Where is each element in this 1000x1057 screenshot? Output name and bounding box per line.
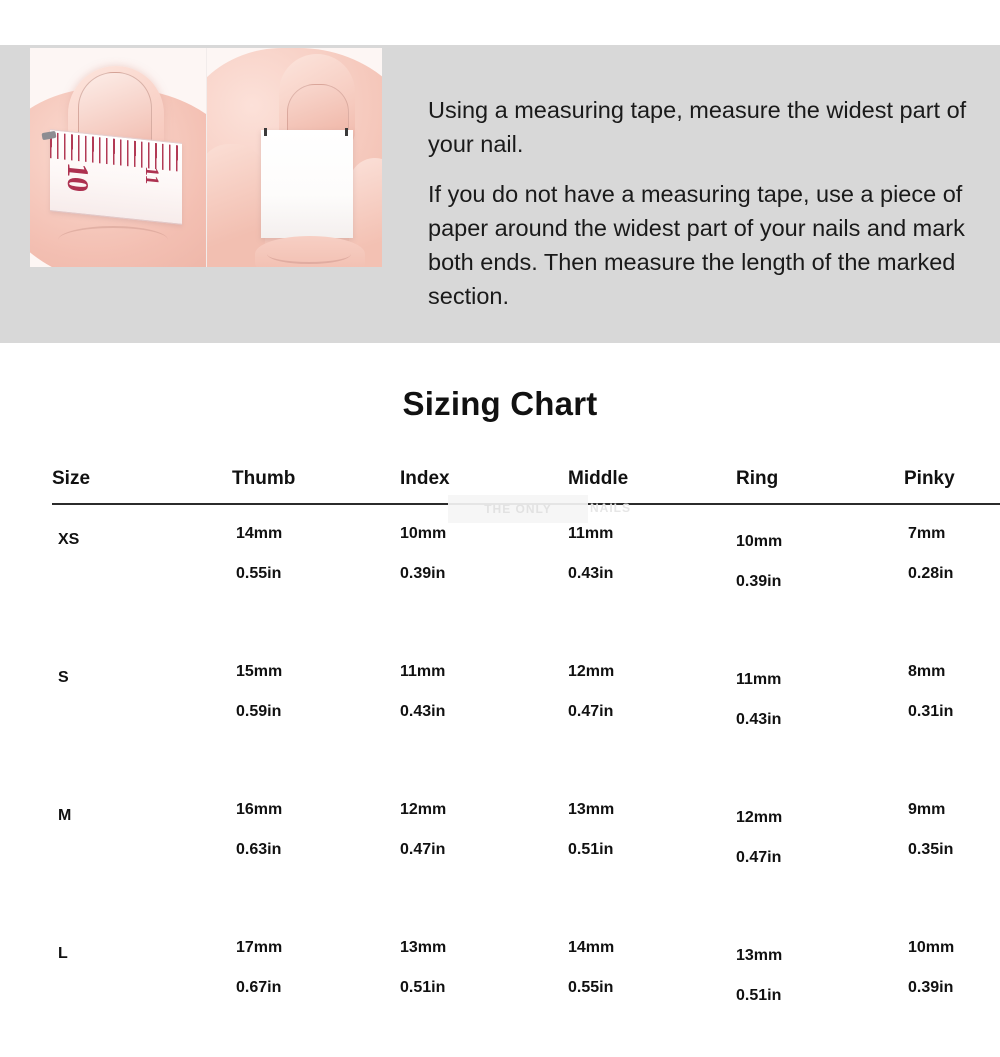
value-mm: 7mm: [908, 525, 1000, 543]
finger-with-paper-strip-photo: [206, 48, 383, 267]
value-inch: 0.35in: [908, 841, 1000, 859]
value-inch: 0.51in: [400, 979, 568, 997]
cell-middle: 12mm 0.47in: [568, 643, 736, 781]
row-size-label: L: [52, 919, 232, 1057]
value-mm: 11mm: [568, 525, 736, 543]
column-header-thumb: Thumb: [232, 468, 400, 504]
value-mm: 13mm: [568, 801, 736, 819]
value-inch: 0.63in: [236, 841, 400, 859]
column-header-size: Size: [52, 468, 232, 504]
cell-middle: 14mm 0.55in: [568, 919, 736, 1057]
paper-mark-right-icon: [345, 128, 348, 136]
column-header-index: Index: [400, 468, 568, 504]
value-mm: 8mm: [908, 663, 1000, 681]
value-inch: 0.43in: [736, 711, 904, 729]
value-mm: 12mm: [400, 801, 568, 819]
cell-middle: 13mm 0.51in: [568, 781, 736, 919]
instruction-text-block: Using a measuring tape, measure the wide…: [428, 93, 980, 313]
value-mm: 16mm: [236, 801, 400, 819]
cell-ring: 12mm 0.47in: [736, 781, 904, 919]
table-row: L 17mm 0.67in 13mm 0.51in 14mm 0.55in 13…: [52, 919, 1000, 1057]
value-mm: 13mm: [736, 947, 904, 965]
value-inch: 0.43in: [400, 703, 568, 721]
sizing-table: Size Thumb Index Middle Ring Pinky XS 14…: [52, 468, 1000, 1057]
instruction-photo-pair: 10 11: [30, 48, 382, 267]
value-mm: 9mm: [908, 801, 1000, 819]
value-inch: 0.47in: [400, 841, 568, 859]
value-mm: 12mm: [568, 663, 736, 681]
value-mm: 10mm: [736, 533, 904, 551]
value-inch: 0.55in: [236, 565, 400, 583]
value-mm: 15mm: [236, 663, 400, 681]
cell-ring: 13mm 0.51in: [736, 919, 904, 1057]
cell-index: 13mm 0.51in: [400, 919, 568, 1057]
page-title: Sizing Chart: [0, 385, 1000, 423]
value-inch: 0.47in: [568, 703, 736, 721]
row-size-label: M: [52, 781, 232, 919]
value-mm: 12mm: [736, 809, 904, 827]
sizing-table-wrapper: Size Thumb Index Middle Ring Pinky XS 14…: [52, 468, 985, 1057]
value-mm: 14mm: [568, 939, 736, 957]
value-mm: 14mm: [236, 525, 400, 543]
value-inch: 0.55in: [568, 979, 736, 997]
table-row: M 16mm 0.63in 12mm 0.47in 13mm 0.51in 12…: [52, 781, 1000, 919]
column-header-ring: Ring: [736, 468, 904, 504]
value-mm: 10mm: [908, 939, 1000, 957]
instruction-paragraph-2: If you do not have a measuring tape, use…: [428, 177, 980, 313]
value-mm: 11mm: [736, 671, 904, 689]
cell-pinky: 8mm 0.31in: [904, 643, 1000, 781]
value-inch: 0.39in: [400, 565, 568, 583]
cell-pinky: 9mm 0.35in: [904, 781, 1000, 919]
cell-pinky: 10mm 0.39in: [904, 919, 1000, 1057]
knuckle-crease: [267, 244, 351, 264]
value-inch: 0.47in: [736, 849, 904, 867]
value-inch: 0.43in: [568, 565, 736, 583]
value-inch: 0.51in: [568, 841, 736, 859]
value-inch: 0.59in: [236, 703, 400, 721]
table-row: XS 14mm 0.55in 10mm 0.39in 11mm 0.43in 1…: [52, 504, 1000, 643]
cell-index: 11mm 0.43in: [400, 643, 568, 781]
value-inch: 0.39in: [908, 979, 1000, 997]
value-inch: 0.51in: [736, 987, 904, 1005]
value-inch: 0.67in: [236, 979, 400, 997]
cell-middle: 11mm 0.43in: [568, 504, 736, 643]
column-header-pinky: Pinky: [904, 468, 1000, 504]
cell-thumb: 15mm 0.59in: [232, 643, 400, 781]
table-row: S 15mm 0.59in 11mm 0.43in 12mm 0.47in 11…: [52, 643, 1000, 781]
tape-number-10: 10: [60, 161, 94, 193]
value-inch: 0.28in: [908, 565, 1000, 583]
paper-mark-left-icon: [264, 128, 267, 136]
cell-index: 12mm 0.47in: [400, 781, 568, 919]
value-mm: 10mm: [400, 525, 568, 543]
cell-index: 10mm 0.39in: [400, 504, 568, 643]
value-mm: 13mm: [400, 939, 568, 957]
cell-ring: 10mm 0.39in: [736, 504, 904, 643]
value-mm: 11mm: [400, 663, 568, 681]
cell-thumb: 16mm 0.63in: [232, 781, 400, 919]
instruction-paragraph-1: Using a measuring tape, measure the wide…: [428, 93, 980, 161]
thumb-with-measuring-tape-photo: 10 11: [30, 48, 206, 267]
column-header-middle: Middle: [568, 468, 736, 504]
knuckle-crease: [58, 226, 168, 254]
cell-thumb: 14mm 0.55in: [232, 504, 400, 643]
value-mm: 17mm: [236, 939, 400, 957]
row-size-label: XS: [52, 504, 232, 643]
cell-ring: 11mm 0.43in: [736, 643, 904, 781]
tape-number-11: 11: [140, 166, 162, 186]
row-size-label: S: [52, 643, 232, 781]
paper-strip: [261, 130, 353, 238]
cell-pinky: 7mm 0.28in: [904, 504, 1000, 643]
value-inch: 0.39in: [736, 573, 904, 591]
value-inch: 0.31in: [908, 703, 1000, 721]
cell-thumb: 17mm 0.67in: [232, 919, 400, 1057]
measuring-tape: 10 11: [50, 129, 182, 225]
table-header-row: Size Thumb Index Middle Ring Pinky: [52, 468, 1000, 504]
left-finger-shape: [206, 144, 265, 267]
